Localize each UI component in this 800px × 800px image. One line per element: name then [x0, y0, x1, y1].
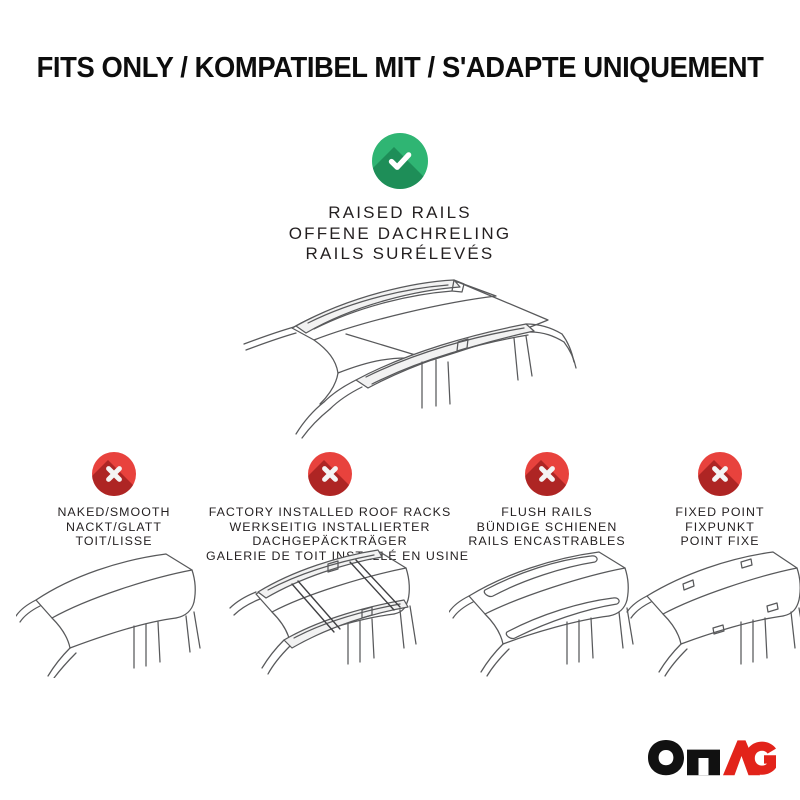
item-label-en: FACTORY INSTALLED ROOF RACKS — [206, 505, 454, 520]
omac-logo — [646, 738, 778, 778]
car-roof-factory-racks-illustration — [222, 548, 438, 680]
item-label-en: NAKED/SMOOTH — [22, 505, 206, 520]
compatible-labels: RAISED RAILS OFFENE DACHRELING RAILS SUR… — [0, 203, 800, 265]
item-label-de-1: WERKSEITIG INSTALLIERTER — [206, 520, 454, 535]
item-label-de-2: DACHGEPÄCKTRÄGER — [206, 534, 454, 549]
item-labels: FLUSH RAILS BÜNDIGE SCHIENEN RAILS ENCAS… — [454, 505, 640, 549]
incompatible-item-fixed-point: FIXED POINT FIXPUNKT POINT FIXE — [640, 452, 800, 549]
incompatible-section: NAKED/SMOOTH NACKT/GLATT TOIT/LISSE — [0, 452, 800, 702]
car-roof-naked-smooth-illustration — [16, 548, 212, 678]
item-label-de: FIXPUNKT — [640, 520, 800, 535]
item-label-fr: RAILS ENCASTRABLES — [454, 534, 640, 549]
compatible-label-en: RAISED RAILS — [0, 203, 800, 224]
x-mark-glyph — [525, 452, 569, 496]
page-title: FITS ONLY / KOMPATIBEL MIT / S'ADAPTE UN… — [16, 52, 784, 85]
compatible-label-de: OFFENE DACHRELING — [0, 224, 800, 245]
compatible-label-fr: RAILS SURÉLEVÉS — [0, 244, 800, 265]
car-roof-fixed-point-illustration — [625, 548, 800, 678]
x-circle-icon — [698, 452, 742, 496]
logo-letter-o — [648, 740, 684, 775]
car-roof-flush-rails-illustration — [449, 548, 645, 678]
x-circle-icon — [92, 452, 136, 496]
compatibility-infographic: FITS ONLY / KOMPATIBEL MIT / S'ADAPTE UN… — [0, 0, 800, 800]
item-label-fr: POINT FIXE — [640, 534, 800, 549]
incompatible-item-flush-rails: FLUSH RAILS BÜNDIGE SCHIENEN RAILS ENCAS… — [454, 452, 640, 549]
compatible-section: RAISED RAILS OFFENE DACHRELING RAILS SUR… — [0, 133, 800, 265]
check-circle-icon — [372, 133, 428, 189]
item-labels: NAKED/SMOOTH NACKT/GLATT TOIT/LISSE — [22, 505, 206, 549]
item-label-en: FIXED POINT — [640, 505, 800, 520]
car-roof-raised-rails-illustration — [196, 276, 616, 441]
incompatible-item-factory-racks: FACTORY INSTALLED ROOF RACKS WERKSEITIG … — [206, 452, 454, 563]
item-labels: FIXED POINT FIXPUNKT POINT FIXE — [640, 505, 800, 549]
check-mark-glyph — [372, 133, 428, 189]
x-circle-icon — [308, 452, 352, 496]
item-label-de: NACKT/GLATT — [22, 520, 206, 535]
item-label-de: BÜNDIGE SCHIENEN — [454, 520, 640, 535]
item-label-en: FLUSH RAILS — [454, 505, 640, 520]
x-mark-glyph — [92, 452, 136, 496]
x-mark-glyph — [308, 452, 352, 496]
item-label-fr: TOIT/LISSE — [22, 534, 206, 549]
x-mark-glyph — [698, 452, 742, 496]
x-circle-icon — [525, 452, 569, 496]
incompatible-item-naked-smooth: NAKED/SMOOTH NACKT/GLATT TOIT/LISSE — [22, 452, 206, 549]
